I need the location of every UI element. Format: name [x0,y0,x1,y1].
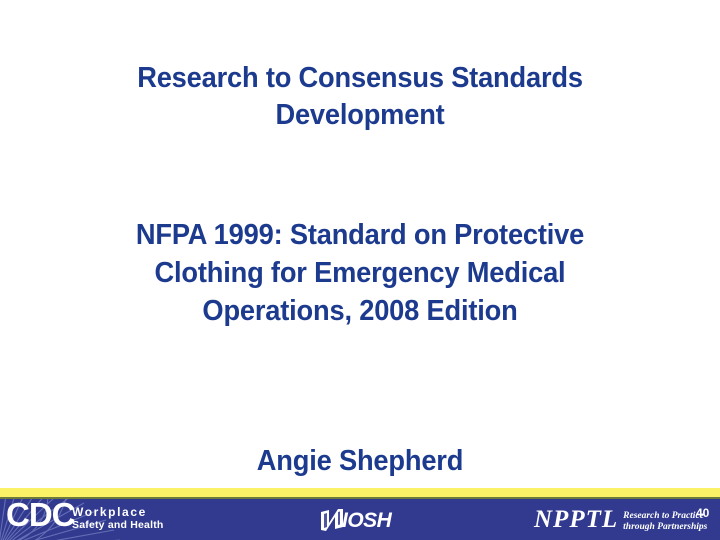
slide-subtitle-line-2: Clothing for Emergency Medical [55,254,664,292]
npptl-logo: NPPTL Research to Practice through Partn… [534,507,707,533]
slide-title: Research to Consensus Standards Developm… [55,60,664,134]
slide-number: 40 [696,507,709,520]
slide-title-line-1: Research to Consensus Standards [55,60,664,97]
slide-title-line-2: Development [55,97,664,134]
niosh-wordmark: IOSH [342,510,391,531]
npptl-tagline-line-1: Research to Practice [623,511,704,521]
footer-yellow-stripe [0,488,720,497]
cdc-logo: CDC Workplace Safety and Health [0,499,200,540]
niosh-logo: IOSH [318,508,391,532]
niosh-n-mark-icon [318,508,344,532]
slide-subtitle-line-3: Operations, 2008 Edition [55,292,664,330]
slide-subtitle-line-1: NFPA 1999: Standard on Protective [55,216,664,254]
npptl-wordmark: NPPTL [534,507,618,533]
cdc-tagline: Workplace Safety and Health [72,506,164,531]
slide: Research to Consensus Standards Developm… [0,0,720,540]
presenter-name: Angie Shepherd [55,443,664,479]
slide-footer: CDC Workplace Safety and Health IOSH NPP… [0,488,720,540]
slide-content-area: Research to Consensus Standards Developm… [0,0,720,488]
npptl-tagline-line-2: through Partnerships [623,522,707,532]
footer-blue-band: CDC Workplace Safety and Health IOSH NPP… [0,499,720,540]
cdc-tagline-line-1: Workplace [72,506,164,519]
cdc-tagline-line-2: Safety and Health [72,520,164,531]
slide-subtitle: NFPA 1999: Standard on Protective Clothi… [55,216,664,330]
cdc-wordmark: CDC [6,499,75,534]
npptl-tagline: Research to Practice through Partnership… [623,511,707,533]
